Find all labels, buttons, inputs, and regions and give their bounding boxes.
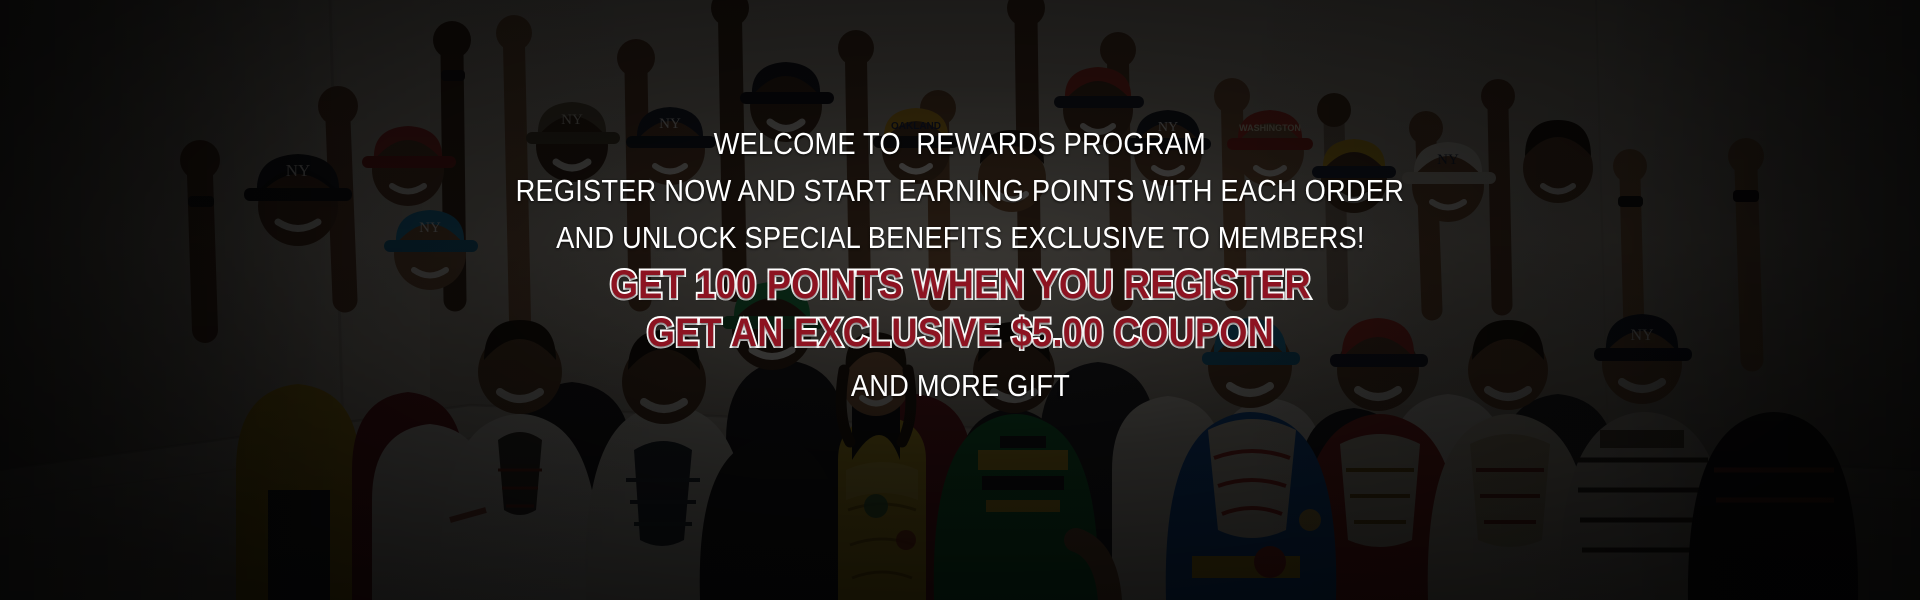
promo-copy-block: WELCOME TO REWARDS PROGRAM REGISTER NOW …: [0, 0, 1920, 600]
highlight-points-offer: GET 100 POINTS WHEN YOU REGISTER: [610, 265, 1311, 305]
subline-register-now: REGISTER NOW AND START EARNING POINTS WI…: [516, 175, 1404, 206]
subline-unlock-benefits: AND UNLOCK SPECIAL BENEFITS EXCLUSIVE TO…: [556, 222, 1365, 253]
footline-and-more-gift: AND MORE GIFT: [850, 370, 1069, 401]
highlight-coupon-offer: GET AN EXCLUSIVE $5.00 COUPON: [646, 313, 1273, 353]
rewards-program-hero-banner: NY NY: [0, 0, 1920, 600]
headline-welcome: WELCOME TO REWARDS PROGRAM: [714, 128, 1206, 159]
